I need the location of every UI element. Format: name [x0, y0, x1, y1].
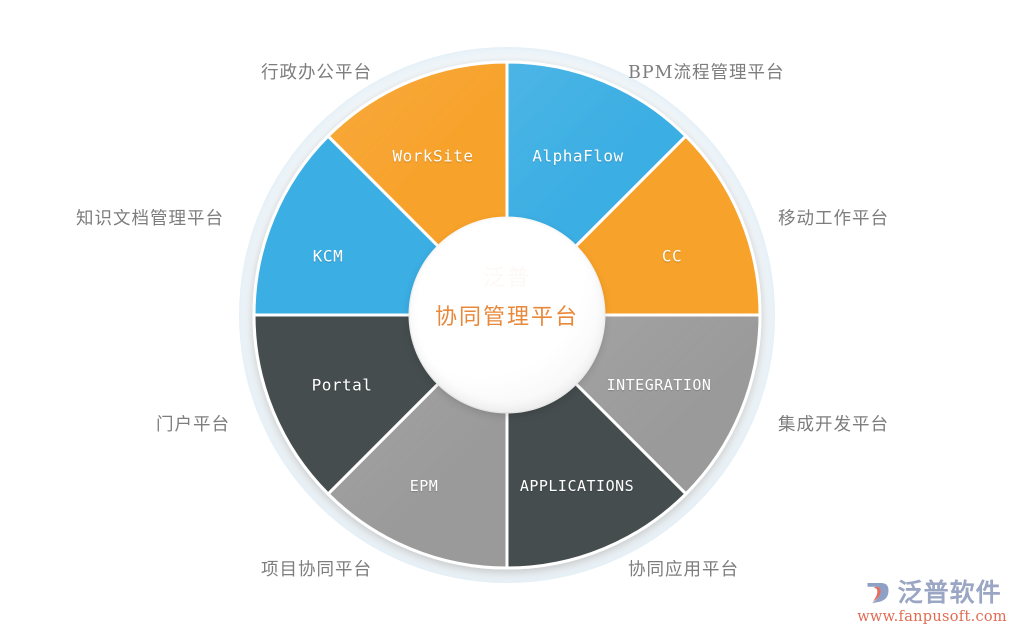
- caption-epm: 项目协同平台: [261, 556, 372, 581]
- caption-integration: 集成开发平台: [778, 411, 889, 436]
- center-title: 协同管理平台: [435, 299, 579, 331]
- brand-name: 泛普软件: [898, 580, 1002, 605]
- caption-cc: 移动工作平台: [778, 205, 889, 230]
- center-hub: 泛普 协同管理平台: [410, 218, 604, 412]
- caption-worksite: 行政办公平台: [261, 59, 372, 84]
- brand-logo-row: 泛普软件: [863, 577, 1002, 607]
- brand-logo: 泛普软件 www.fanpusoft.com: [857, 577, 1007, 625]
- caption-portal: 门户平台: [156, 411, 230, 436]
- caption-kcm: 知识文档管理平台: [76, 205, 224, 230]
- center-watermark: 泛普: [483, 260, 531, 292]
- caption-applications: 协同应用平台: [628, 556, 739, 581]
- diagram-canvas: 泛普 协同管理平台 WorkSite AlphaFlow KCM CC Port…: [0, 0, 1025, 641]
- fanpu-logo-icon: [863, 577, 893, 607]
- caption-alphaflow: BPM流程管理平台: [628, 59, 785, 84]
- brand-url: www.fanpusoft.com: [857, 609, 1007, 625]
